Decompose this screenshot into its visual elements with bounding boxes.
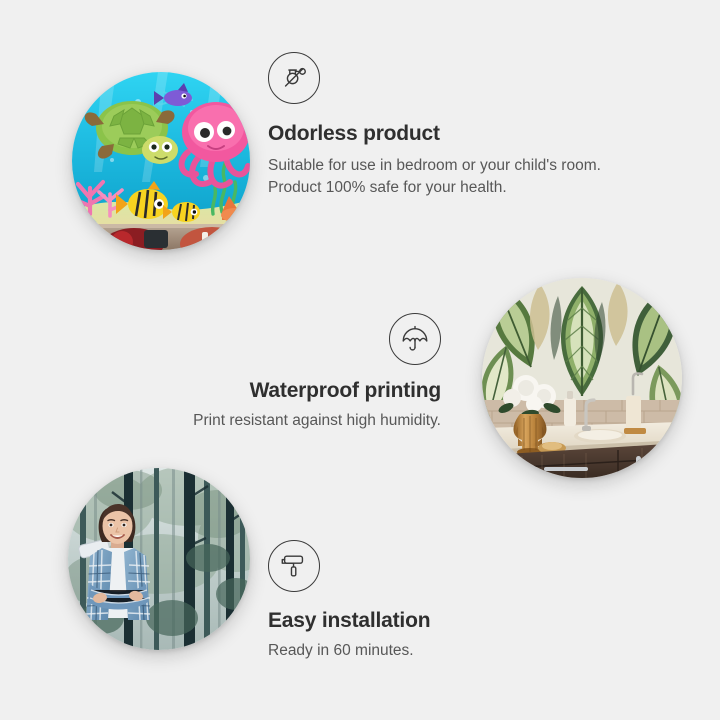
feature-title: Odorless product [268, 122, 608, 146]
paint-roller-icon [268, 540, 320, 592]
icon-wrap-installation [268, 540, 588, 592]
no-odor-icon [268, 52, 320, 104]
medallion-underwater-wallpaper [72, 72, 250, 250]
feature-waterproof: Waterproof printing Print resistant agai… [100, 313, 441, 432]
feature-title: Easy installation [268, 609, 588, 633]
feature-easy-installation: Easy installation Ready in 60 minutes. [268, 540, 588, 662]
medallion-bathroom-wallpaper [482, 278, 682, 478]
feature-description: Print resistant against high humidity. [100, 410, 441, 432]
feature-title: Waterproof printing [100, 379, 441, 403]
icon-wrap-waterproof [100, 313, 441, 379]
feature-description: Ready in 60 minutes. [268, 640, 588, 662]
feature-showcase: Odorless product Suitable for use in bed… [0, 0, 720, 720]
medallion-forest-wallpaper [68, 468, 250, 650]
umbrella-icon [389, 313, 441, 365]
icon-wrap-odorless [268, 52, 608, 104]
feature-odorless: Odorless product Suitable for use in bed… [268, 52, 608, 199]
feature-description: Suitable for use in bedroom or your chil… [268, 155, 608, 199]
